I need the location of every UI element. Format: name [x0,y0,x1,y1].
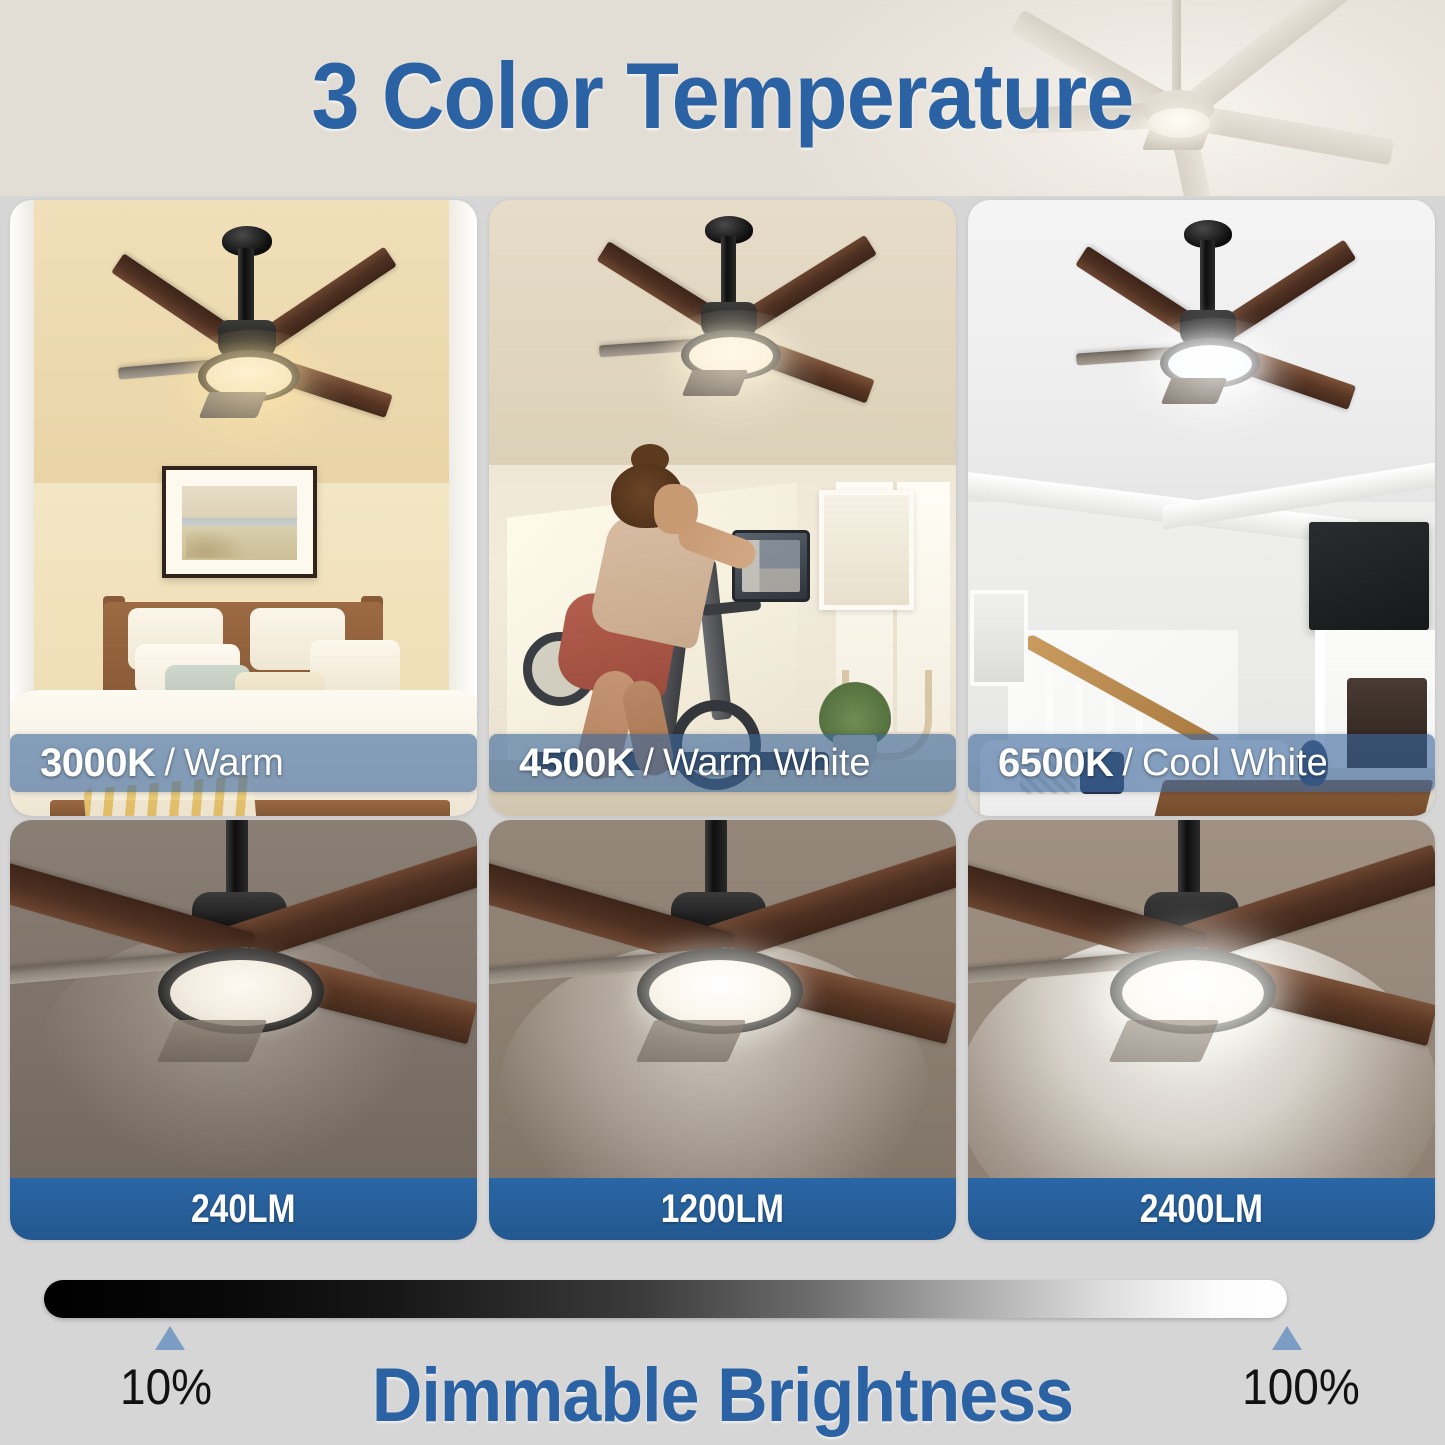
caption-separator: / [643,742,654,785]
framed-artwork [970,590,1028,686]
lumen-caption: 1200LM [489,1178,956,1240]
fan-blade [157,1020,268,1062]
ceiling-fan-icon [10,820,477,1160]
temperature-name: Warm [184,742,284,785]
fan-blade [1161,378,1228,404]
ceiling-fan-icon [1080,214,1380,444]
wall-mounted-tv [1309,522,1429,630]
lumen-panel-240lm[interactable]: 240LM [10,820,477,1240]
fan-light-icon [1122,960,1264,1026]
lumen-value: 240LM [191,1187,296,1232]
home-gym-scene [489,200,956,816]
fan-blade [636,1020,747,1062]
brightness-min-marker-icon [155,1326,185,1350]
kelvin-value: 4500K [519,741,634,786]
caption-separator: / [164,742,175,785]
fan-light-icon [649,960,791,1026]
lumen-value: 2400LM [1140,1187,1263,1232]
temperature-name: Warm White [663,742,871,785]
lumen-panel-2400lm[interactable]: 2400LM [968,820,1435,1240]
fan-blade [1109,1020,1220,1062]
dimmable-brightness-section: 10% 100% Dimmable Brightness [0,1248,1445,1445]
brightness-max-marker-icon [1272,1326,1302,1350]
fan-downrod [1200,240,1215,318]
temperature-caption: 3000K / Warm [10,734,477,792]
brightness-gradient-bar[interactable] [44,1280,1287,1318]
lumen-value: 1200LM [661,1187,784,1232]
fan-blade [682,370,749,396]
panel-grid: 3000K / Warm [0,196,1445,1248]
lumen-panel-1200lm[interactable]: 1200LM [489,820,956,1240]
artwork-image [182,486,297,560]
temperature-caption: 4500K / Warm White [489,734,956,792]
header-banner: 3 Color Temperature [0,0,1445,196]
temperature-panel-4500k[interactable]: 4500K / Warm White [489,200,956,816]
fan-downrod [721,236,736,308]
fan-downrod [226,820,248,902]
ceiling-fan-icon [489,820,956,1160]
dimmable-brightness-title: Dimmable Brightness [58,1352,1387,1439]
person-face [654,484,698,534]
fan-blade [199,392,268,418]
kelvin-value: 6500K [998,741,1113,786]
temperature-panel-3000k[interactable]: 3000K / Warm [10,200,477,816]
temperature-panel-6500k[interactable]: 6500K / Cool White [968,200,1435,816]
fan-downrod [238,248,254,328]
framed-artwork [819,490,914,610]
kelvin-value: 3000K [40,741,155,786]
caption-separator: / [1122,742,1133,785]
ceiling-fan-icon [599,210,899,440]
fan-light-icon [170,960,312,1026]
framed-artwork [162,466,317,578]
lumen-row: 240LM 1200LM [0,820,1445,1248]
temperature-row: 3000K / Warm [0,196,1445,820]
bedroom-scene [10,200,477,816]
fan-downrod [1178,820,1200,902]
ceiling-fan-icon [968,820,1435,1160]
fan-light-icon [206,357,292,397]
lumen-caption: 2400LM [968,1178,1435,1240]
lumen-caption: 240LM [10,1178,477,1240]
page-title: 3 Color Temperature [58,42,1387,150]
ceiling-fan-icon [118,220,418,450]
temperature-name: Cool White [1142,742,1328,785]
fan-downrod [705,820,727,902]
temperature-caption: 6500K / Cool White [968,734,1435,792]
living-room-scene [968,200,1435,816]
